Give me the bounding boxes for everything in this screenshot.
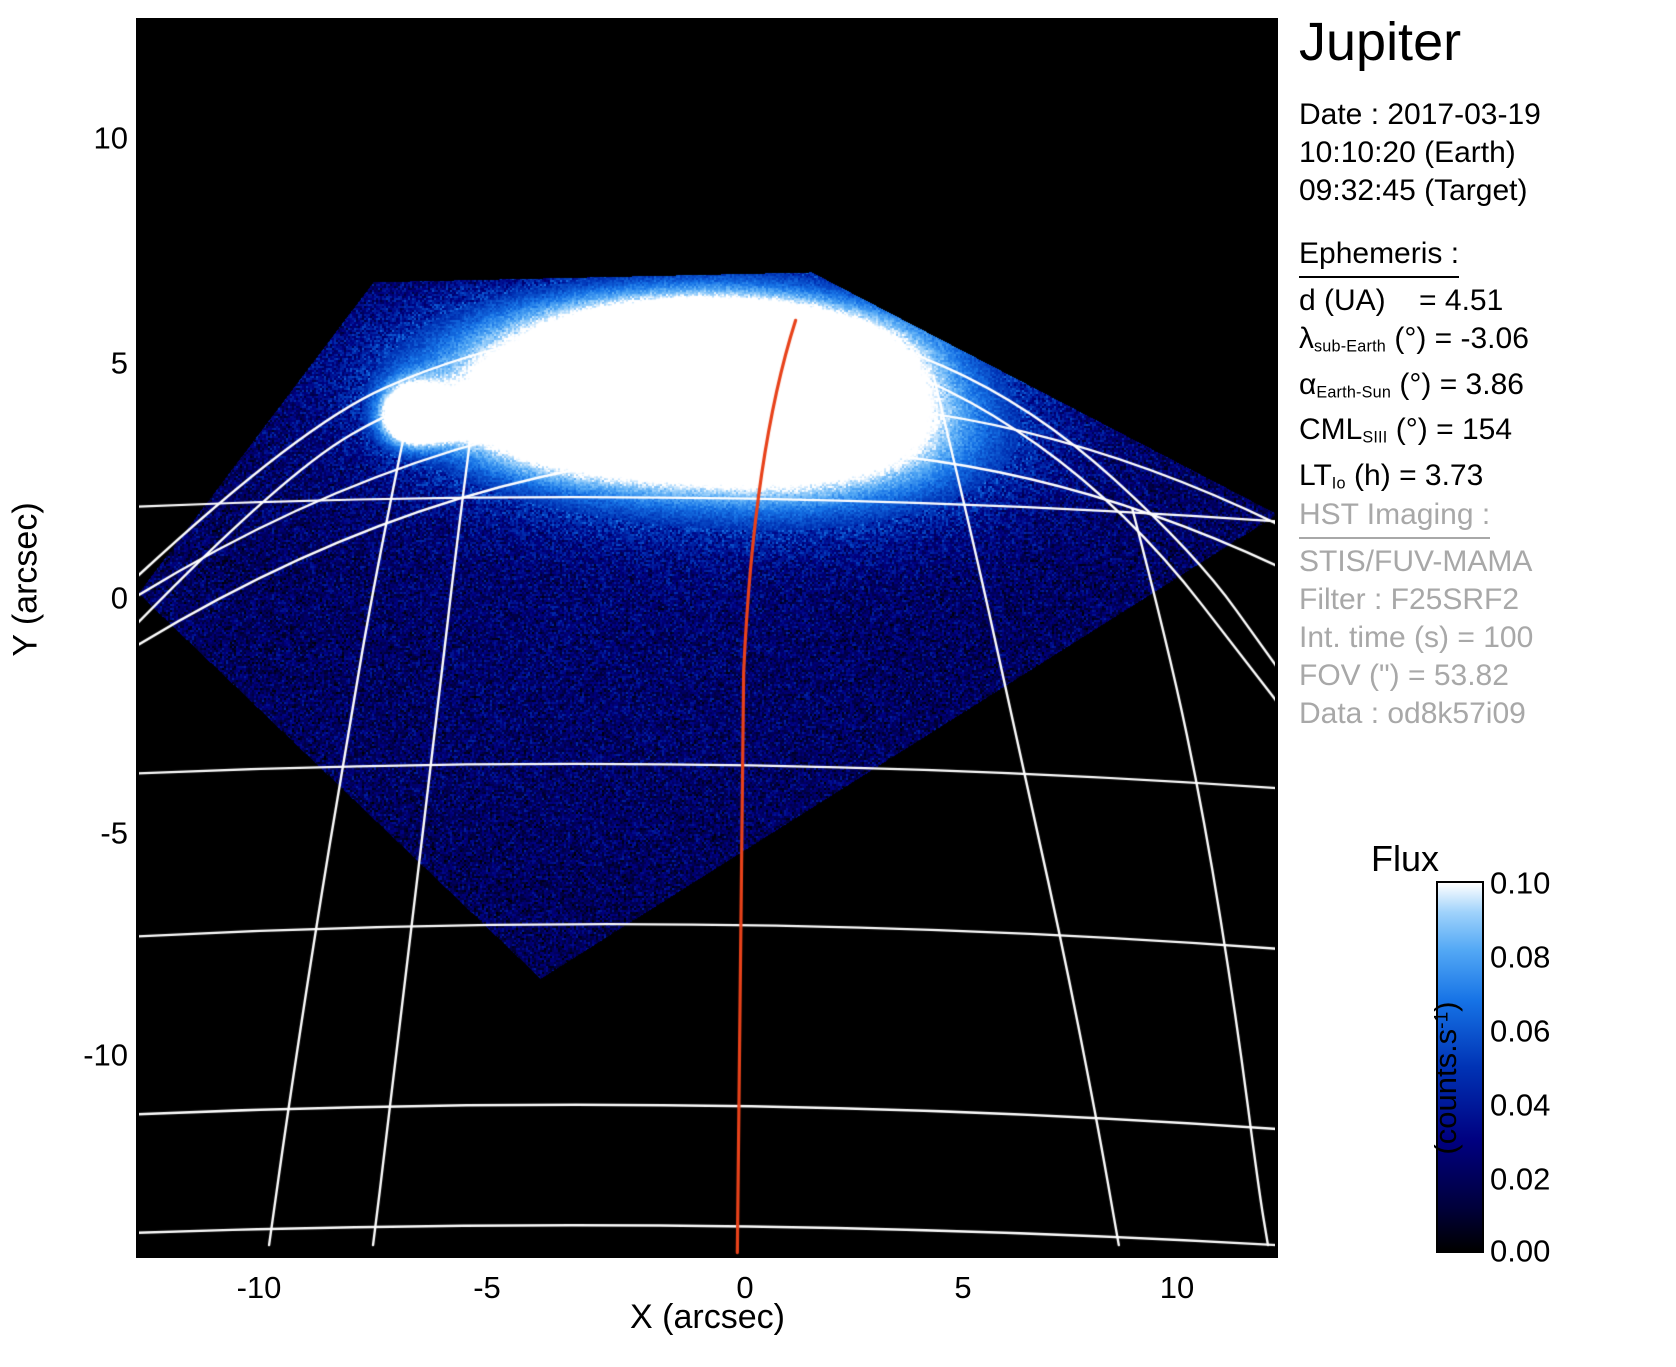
ephemeris-block: Ephemeris : d (UA) = 4.51 λsub-Earth (°)… (1299, 235, 1529, 502)
ephemeris-lambda-row: λsub-Earth (°) = -3.06 (1299, 320, 1529, 366)
distance-value: = 4.51 (1419, 284, 1503, 317)
y-tick-neg5: -5 (0, 818, 128, 849)
plot-border-top (138, 18, 1277, 21)
colorbar-tick-0.10: 0.10 (1490, 868, 1550, 899)
observation-time-target: 09:32:45 (Target) (1299, 172, 1541, 210)
plot-border-left (136, 18, 139, 1258)
plot-border-bottom (138, 1255, 1277, 1258)
y-tick-neg10: -10 (0, 1040, 128, 1071)
colorbar-tick-0.08: 0.08 (1490, 942, 1550, 973)
hst-imaging-block: HST Imaging : STIS/FUV-MAMA Filter : F25… (1299, 496, 1533, 733)
cml-unit: (°) (1396, 413, 1428, 446)
distance-label: d (UA) (1299, 284, 1386, 317)
ephemeris-heading: Ephemeris : (1299, 235, 1459, 278)
lt-subscript: Io (1332, 474, 1346, 492)
colorbar-tick-0.02: 0.02 (1490, 1164, 1550, 1195)
hst-instrument: STIS/FUV-MAMA (1299, 543, 1533, 581)
date-block: Date : 2017-03-19 10:10:20 (Earth) 09:32… (1299, 96, 1541, 210)
aurora-image-plot (138, 20, 1277, 1255)
observation-date: Date : 2017-03-19 (1299, 96, 1541, 134)
lt-value: = 3.73 (1399, 459, 1483, 492)
ephemeris-distance-row: d (UA) = 4.51 (1299, 282, 1529, 320)
colorbar-unit-paren: ) (1428, 1001, 1463, 1011)
hst-fov: FOV (") = 53.82 (1299, 657, 1533, 695)
colorbar-tick-0.00: 0.00 (1490, 1236, 1550, 1267)
y-tick-10: 10 (0, 123, 128, 154)
target-title: Jupiter (1299, 14, 1461, 70)
jupiter-aurora-heatmap (138, 20, 1277, 1255)
alpha-value: = 3.86 (1440, 368, 1524, 401)
observation-info-panel: Jupiter Date : 2017-03-19 10:10:20 (Eart… (1299, 0, 1676, 1367)
ephemeris-cml-row: CMLSIII (°) = 154 (1299, 411, 1529, 457)
cml-label: CML (1299, 413, 1362, 446)
hst-int-time: Int. time (s) = 100 (1299, 619, 1533, 657)
colorbar-tick-0.06: 0.06 (1490, 1016, 1550, 1047)
y-axis-title: Y (arcsec) (7, 450, 46, 710)
colorbar-unit-label: (counts.s-1) (1428, 948, 1464, 1208)
alpha-unit: (°) (1399, 368, 1431, 401)
colorbar-unit-exponent: -1 (1431, 1012, 1452, 1029)
plot-border-right (1275, 18, 1278, 1258)
hst-filter: Filter : F25SRF2 (1299, 581, 1533, 619)
lambda-symbol: λ (1299, 322, 1314, 355)
observation-time-earth: 10:10:20 (Earth) (1299, 134, 1541, 172)
colorbar-tick-0.04: 0.04 (1490, 1090, 1550, 1121)
lt-unit: (h) (1354, 459, 1391, 492)
lambda-value: = -3.06 (1435, 322, 1529, 355)
hst-heading: HST Imaging : (1299, 496, 1490, 539)
x-axis-title: X (arcsec) (138, 1298, 1277, 1337)
cml-value: = 154 (1436, 413, 1512, 446)
lambda-unit: (°) (1394, 322, 1426, 355)
lt-label: LT (1299, 459, 1332, 492)
colorbar-title: Flux (1330, 838, 1480, 880)
cml-subscript: SIII (1362, 429, 1387, 447)
y-tick-5: 5 (0, 348, 128, 379)
lambda-subscript: sub-Earth (1314, 338, 1386, 356)
alpha-subscript: Earth-Sun (1316, 383, 1391, 401)
hst-data-id: Data : od8k57i09 (1299, 695, 1533, 733)
alpha-symbol: α (1299, 368, 1316, 401)
ephemeris-alpha-row: αEarth-Sun (°) = 3.86 (1299, 366, 1529, 412)
colorbar-unit-text: (counts.s (1428, 1029, 1463, 1155)
